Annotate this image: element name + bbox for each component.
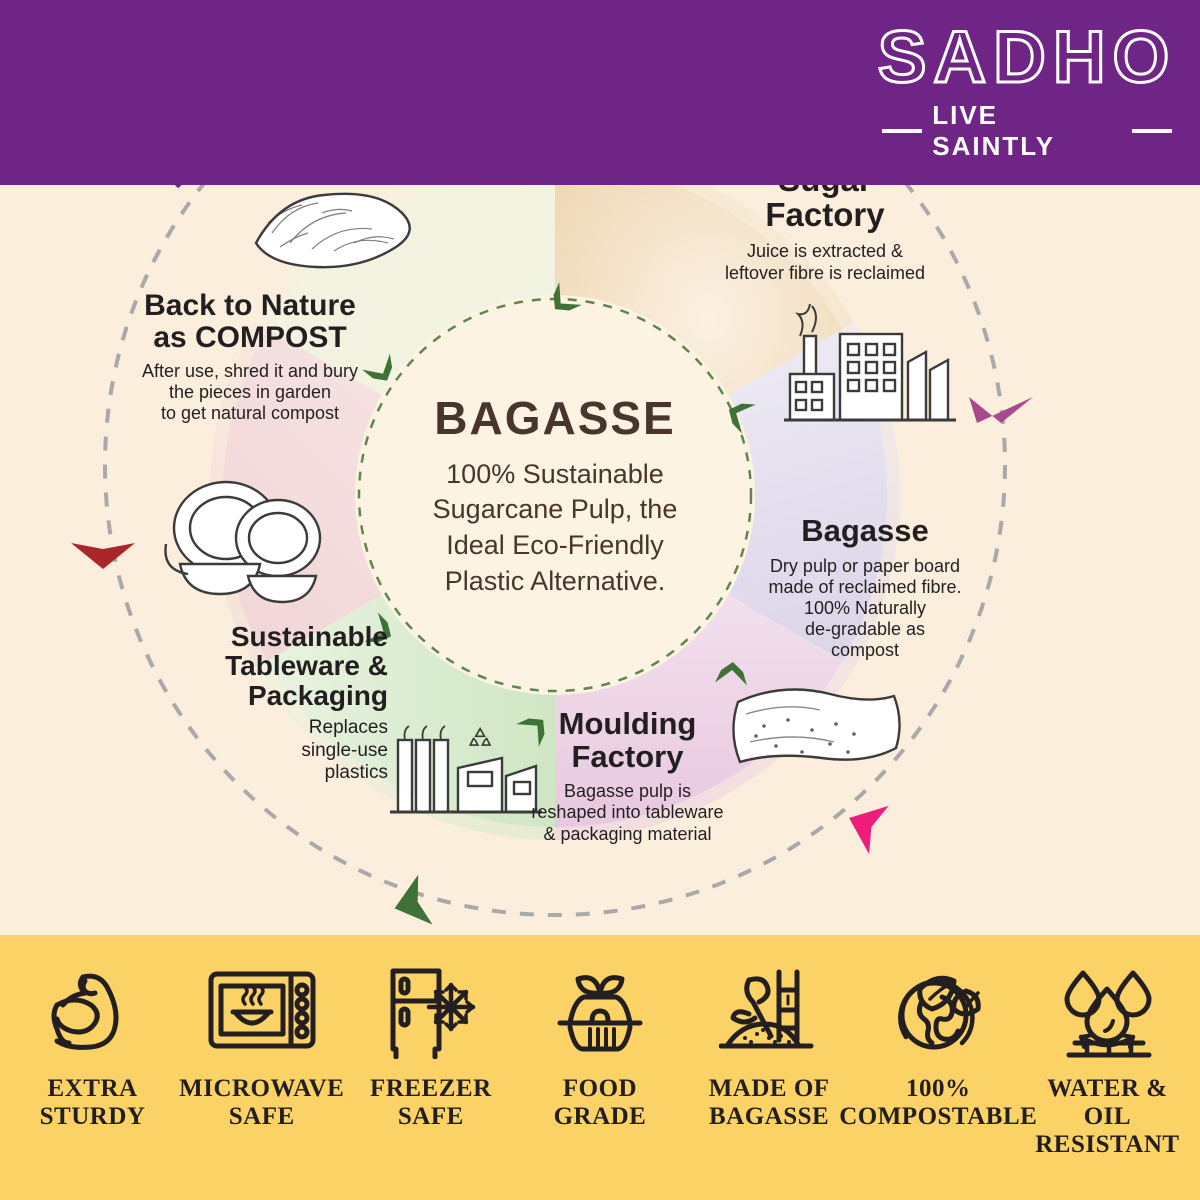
step-desc-bagasse-1: Dry pulp or paper board <box>770 556 960 576</box>
step-title-bagasse: Bagasse <box>750 515 980 548</box>
step-desc-tableware-3: plastics <box>325 762 388 783</box>
feature-food-grade: FOOD GRADE <box>520 957 680 1131</box>
step-title-tableware-2: Tableware & <box>225 650 388 681</box>
step-desc-bagasse-2: made of reclaimed fibre. <box>768 577 961 597</box>
center-statement: BAGASSE 100% Sustainable Sugarcane Pulp,… <box>355 295 755 695</box>
logo-rule-left <box>882 129 922 133</box>
refrigerator-icon <box>385 957 477 1065</box>
step-label-moulding-factory: Moulding Factory Bagasse pulp is reshape… <box>520 708 735 845</box>
step-desc-sugar-factory-1: Juice is extracted & <box>747 241 903 261</box>
feature-label-compostable-2: COMPOSTABLE <box>839 1103 1037 1130</box>
flexed-bicep-icon <box>45 957 141 1065</box>
step-desc-bagasse-3: 100% Naturally <box>804 598 926 618</box>
center-title: BAGASSE <box>434 391 675 445</box>
step-title-compost-1: Back to Nature <box>144 289 356 322</box>
step-label-compost: Back to Nature as COMPOST After use, shr… <box>120 290 380 425</box>
brand-tagline: LIVE SAINTLY <box>932 100 1122 162</box>
feature-label-food-grade-2: GRADE <box>554 1103 647 1130</box>
feature-compostable: 100% COMPOSTABLE <box>858 957 1018 1131</box>
feature-extra-sturdy: EXTRA STURDY <box>13 957 173 1131</box>
sugarcane-soil-icon <box>719 957 819 1065</box>
center-line-3: Ideal Eco-Friendly <box>433 528 678 564</box>
feature-label-extra-sturdy-2: STURDY <box>40 1103 146 1130</box>
step-desc-moulding-2: reshaped into tableware <box>531 802 723 822</box>
arrow-left-icon <box>71 543 135 569</box>
arrow-bottom-right-icon <box>839 794 888 854</box>
step-desc-compost-3: to get natural compost <box>161 403 339 423</box>
feature-freezer-safe: FREEZER SAFE <box>351 957 511 1131</box>
step-desc-tableware-2: single-use <box>301 740 388 761</box>
feature-label-water-oil-resistant-1: WATER & OIL <box>1047 1075 1167 1130</box>
center-line-1: 100% Sustainable <box>433 457 678 493</box>
water-droplets-icon <box>1055 957 1159 1065</box>
feature-label-microwave-safe-2: SAFE <box>229 1103 295 1130</box>
step-desc-tableware-1: Replaces <box>309 717 388 738</box>
center-line-2: Sugarcane Pulp, the <box>433 492 678 528</box>
feature-bar: EXTRA STURDY MICROWAVE SAFE <box>0 935 1200 1200</box>
feature-label-food-grade-1: FOOD <box>563 1075 637 1102</box>
step-desc-bagasse-5: compost <box>831 640 899 660</box>
globe-leaves-icon <box>886 957 990 1065</box>
logo-rule-right <box>1132 129 1172 133</box>
brand-name: SADHO <box>878 23 1177 92</box>
step-desc-moulding-1: Bagasse pulp is <box>564 781 691 801</box>
feature-label-microwave-safe-1: MICROWAVE <box>179 1075 344 1102</box>
step-desc-bagasse-4: de-gradable as <box>805 619 925 639</box>
step-title-sugar-factory-2: Factory <box>765 196 884 233</box>
step-title-moulding-2: Factory <box>572 739 684 774</box>
feature-microwave-safe: MICROWAVE SAFE <box>182 957 342 1131</box>
step-desc-sugar-factory-2: leftover fibre is reclaimed <box>725 263 925 283</box>
feature-label-extra-sturdy-1: EXTRA <box>48 1075 138 1102</box>
header-bar: SADHO LIVE SAINTLY <box>0 0 1200 185</box>
brand-logo: SADHO LIVE SAINTLY <box>882 30 1172 155</box>
step-desc-compost-1: After use, shred it and bury <box>142 361 358 381</box>
step-desc-compost-2: the pieces in garden <box>169 382 331 402</box>
feature-label-compostable-1: 100% <box>906 1075 971 1102</box>
pulp-board-icon <box>733 690 899 763</box>
step-title-moulding-1: Moulding <box>559 706 697 741</box>
step-label-tableware: Sustainable Tableware & Packaging Replac… <box>198 622 388 784</box>
feature-label-made-of-bagasse-1: MADE OF <box>709 1075 830 1102</box>
center-line-4: Plastic Alternative. <box>433 564 678 600</box>
food-container-leaf-icon <box>548 957 652 1065</box>
microwave-icon <box>207 957 317 1065</box>
feature-water-oil-resistant: WATER & OIL RESISTANT <box>1027 957 1187 1159</box>
feature-label-freezer-safe-1: FREEZER <box>370 1075 492 1102</box>
feature-label-water-oil-resistant-2: RESISTANT <box>1035 1131 1179 1158</box>
feature-label-freezer-safe-2: SAFE <box>398 1103 464 1130</box>
step-title-tableware-3: Packaging <box>248 680 388 711</box>
feature-label-made-of-bagasse-2: BAGASSE <box>709 1103 829 1130</box>
step-title-tableware-1: Sustainable <box>231 621 388 652</box>
step-title-compost-2: as COMPOST <box>153 321 346 354</box>
arrow-right-icon <box>969 397 1033 423</box>
feature-made-of-bagasse: MADE OF BAGASSE <box>689 957 849 1131</box>
step-desc-moulding-3: & packaging material <box>543 824 711 844</box>
step-label-bagasse: Bagasse Dry pulp or paper board made of … <box>750 515 980 662</box>
